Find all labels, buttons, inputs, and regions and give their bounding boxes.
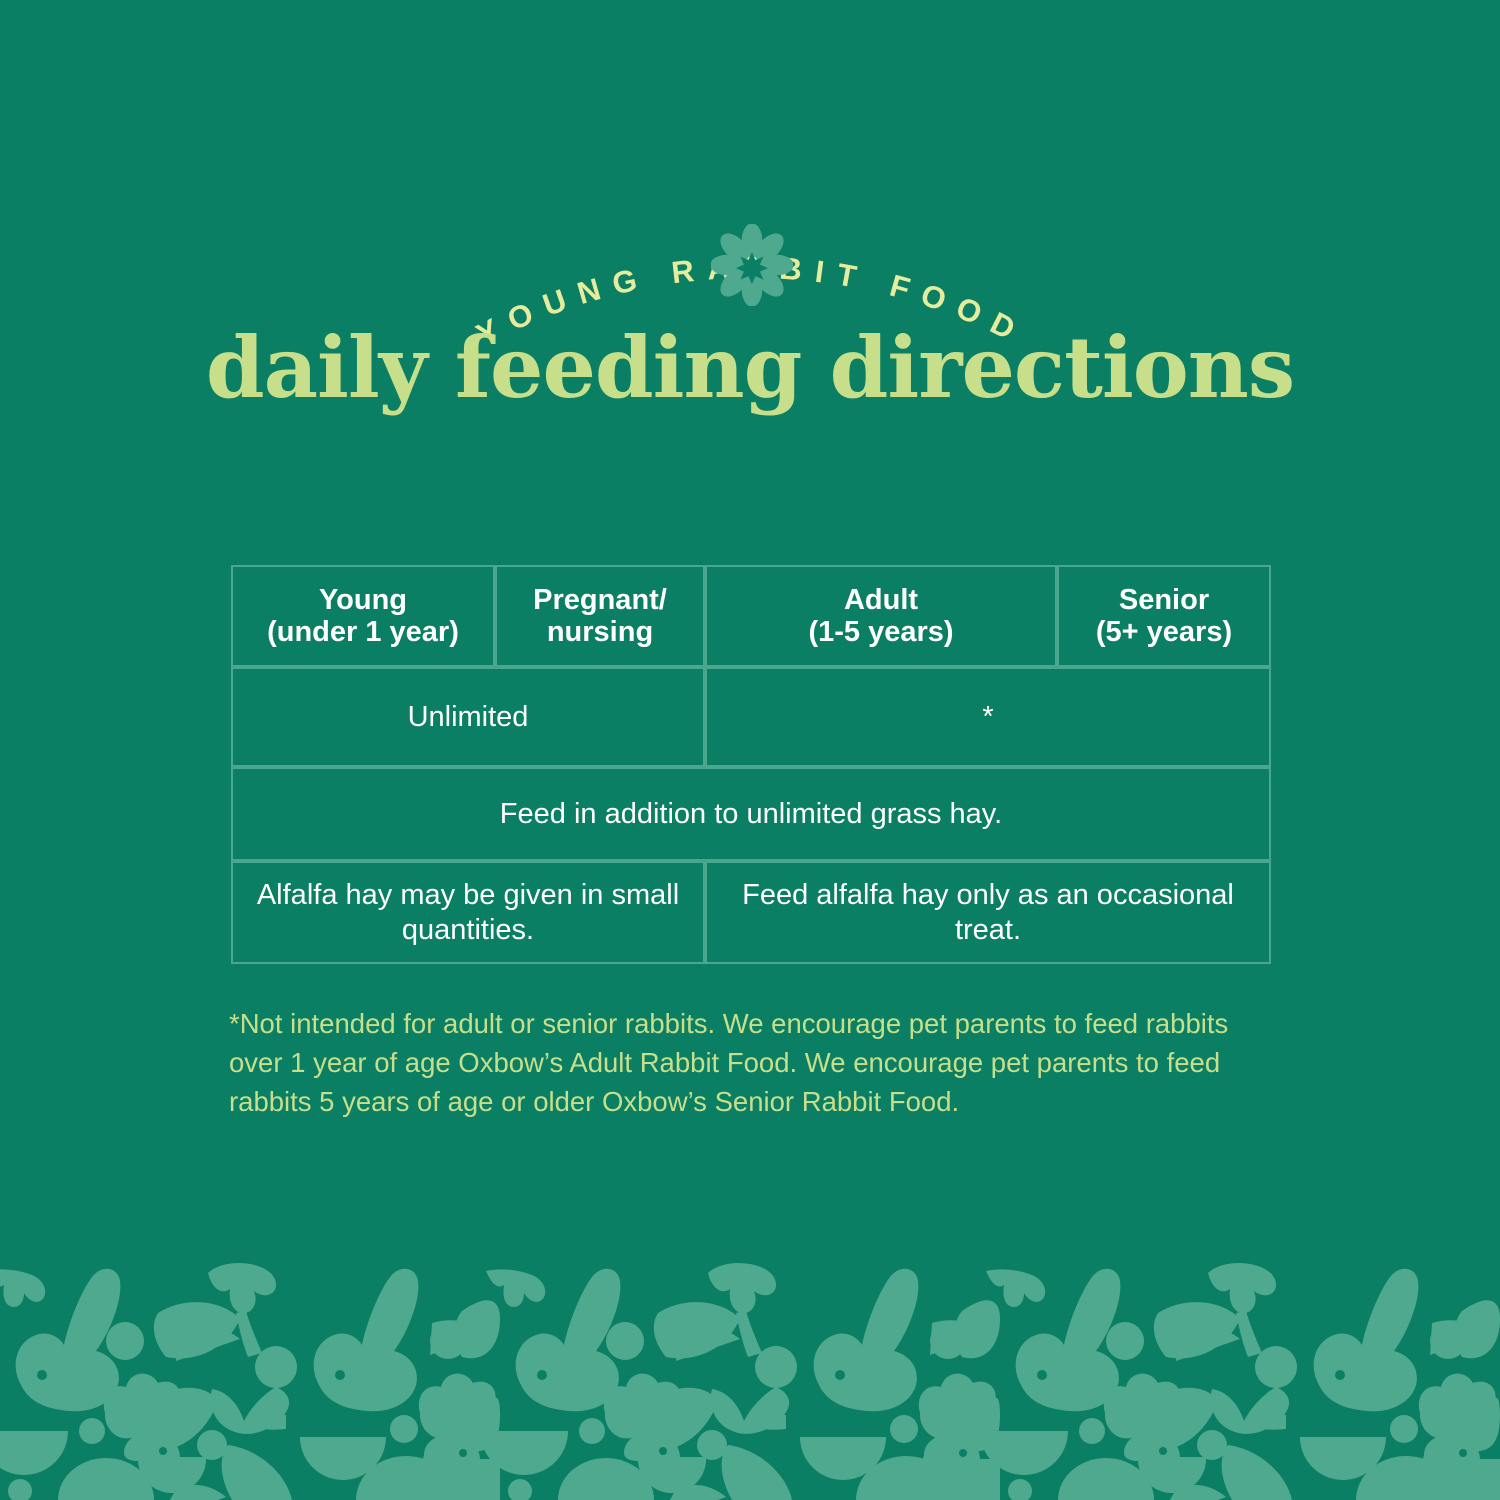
header-line2: (1-5 years) xyxy=(808,616,953,648)
table-header-row: Young (under 1 year) Pregnant/ nursing A… xyxy=(231,565,1271,667)
rosette-flower-icon xyxy=(711,224,793,306)
botanical-rabbit-pattern xyxy=(0,1263,1500,1500)
header-line1: Young xyxy=(319,584,407,616)
header-line1: Pregnant/ xyxy=(533,584,667,616)
page-title: daily feeding directions xyxy=(0,326,1500,410)
cell-unlimited: Unlimited xyxy=(231,667,705,767)
header-line2: nursing xyxy=(547,616,653,648)
header-line1: Senior xyxy=(1119,584,1209,616)
header-line2: (5+ years) xyxy=(1096,616,1232,648)
cell-asterisk: * xyxy=(705,667,1271,767)
cell-grass-hay-note: Feed in addition to unlimited grass hay. xyxy=(231,767,1271,861)
footnote-text: *Not intended for adult or senior rabbit… xyxy=(229,1004,1277,1121)
cell-alfalfa-occasional-treat: Feed alfalfa hay only as an occasional t… xyxy=(705,861,1271,964)
table-header-young: Young (under 1 year) xyxy=(231,565,495,667)
table-header-pregnant-nursing: Pregnant/ nursing xyxy=(495,565,705,667)
table-row: Alfalfa hay may be given in small quanti… xyxy=(231,861,1271,964)
feeding-directions-table: Young (under 1 year) Pregnant/ nursing A… xyxy=(231,565,1271,964)
table-header-senior: Senior (5+ years) xyxy=(1057,565,1271,667)
cell-alfalfa-small-quantities: Alfalfa hay may be given in small quanti… xyxy=(231,861,705,964)
table-row: Feed in addition to unlimited grass hay. xyxy=(231,767,1271,861)
header-line2: (under 1 year) xyxy=(267,616,459,648)
table-row: Unlimited * xyxy=(231,667,1271,767)
table-header-adult: Adult (1-5 years) xyxy=(705,565,1057,667)
header-line1: Adult xyxy=(844,584,918,616)
